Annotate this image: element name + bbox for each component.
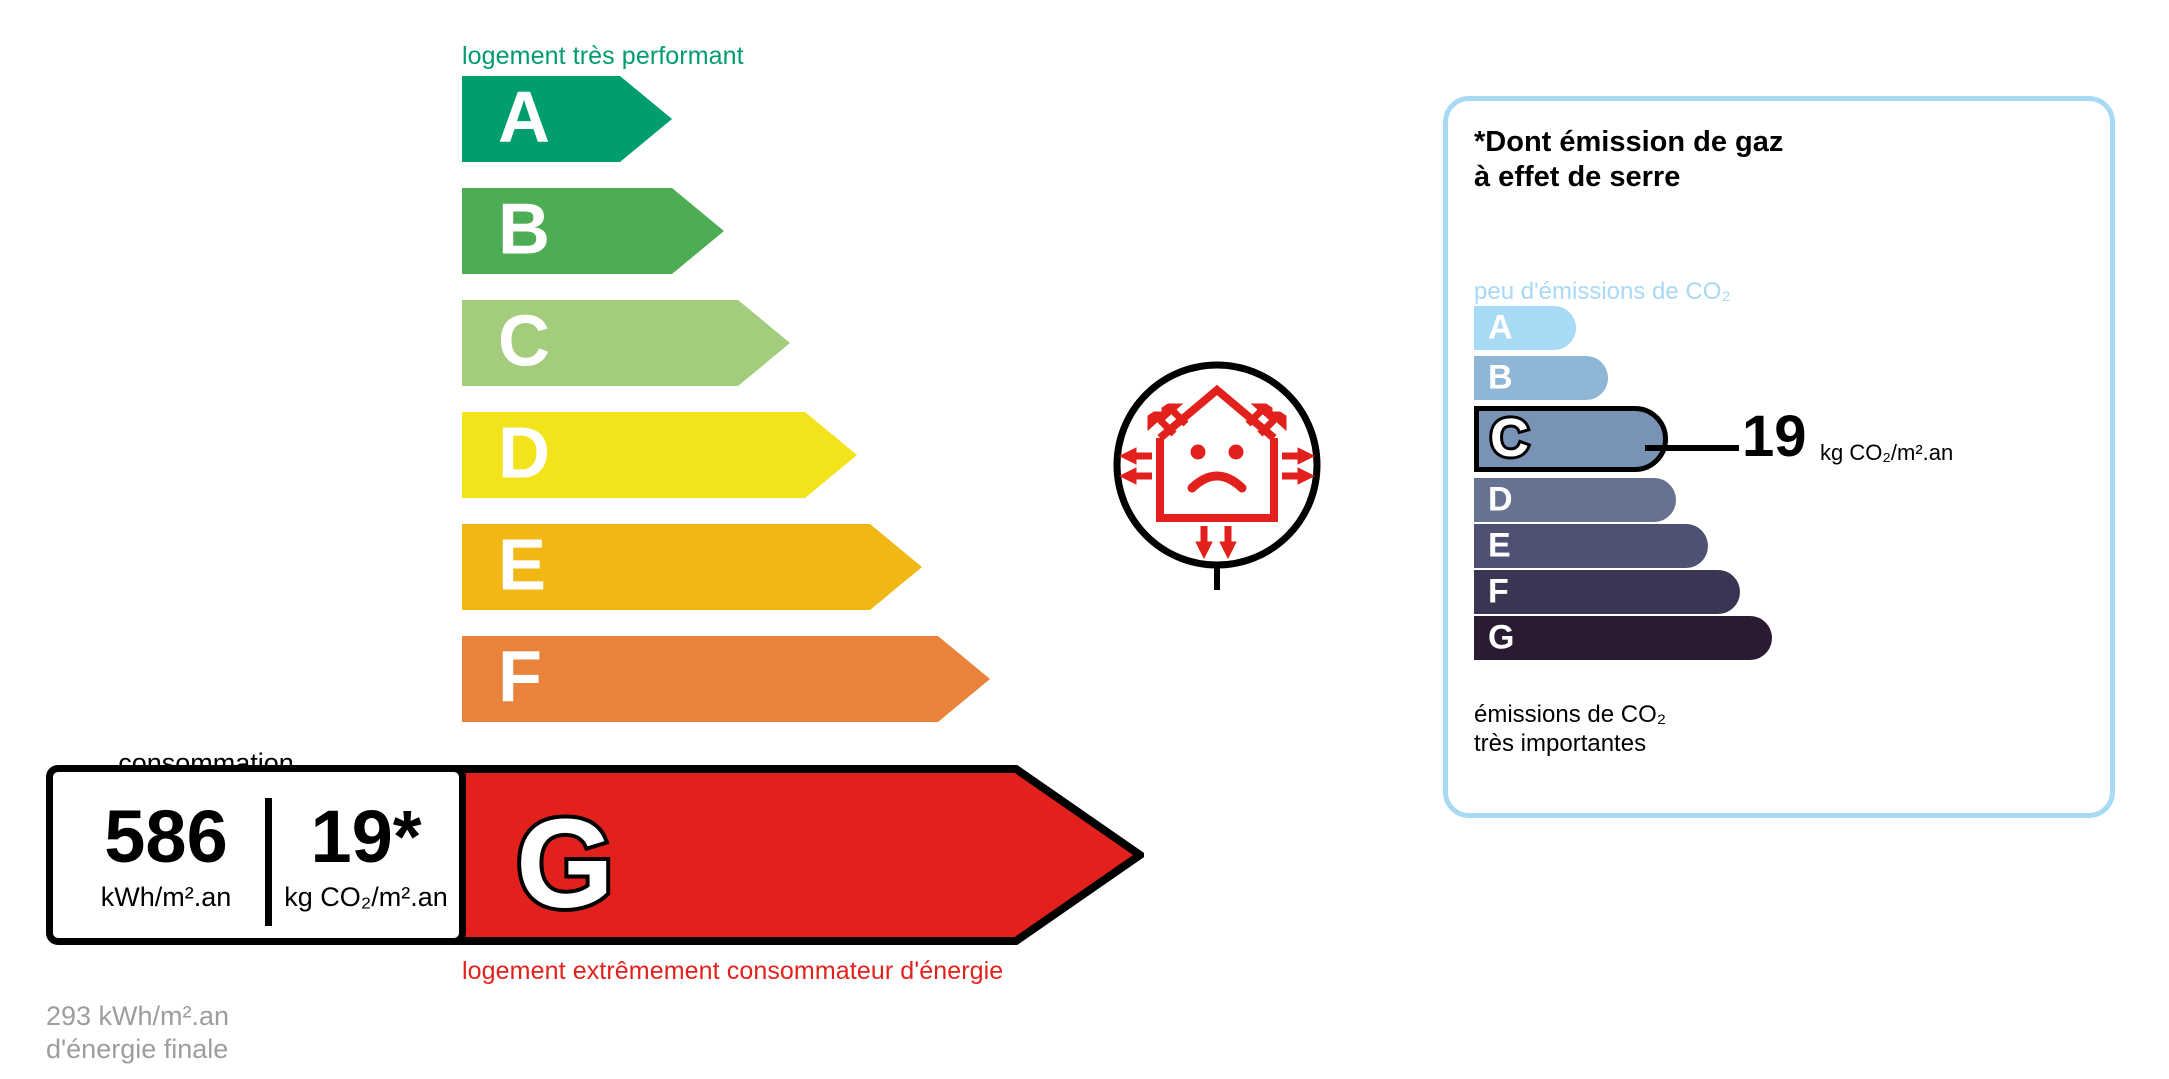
- ges-leader-line: [1645, 445, 1739, 451]
- energy-badge-callout: [1112, 360, 1322, 590]
- final-energy-line1: 293 kWh/m².an: [46, 1000, 229, 1033]
- ges-class-letter-c: C: [1490, 411, 1529, 465]
- ges-bottom-label-line1: émissions de CO₂: [1474, 700, 1666, 729]
- ges-title-line2: à effet de serre: [1474, 160, 1783, 195]
- ges-title-line1: *Dont émission de gaz: [1474, 125, 1783, 160]
- final-energy-line2: d'énergie finale: [46, 1033, 229, 1066]
- ges-class-letter-f: F: [1488, 574, 1509, 608]
- energy-class-bar-b: B: [462, 188, 724, 274]
- ges-class-row-c: C: [1474, 406, 1668, 472]
- ges-class-row-f: F: [1474, 570, 1740, 614]
- energy-class-letter-g: G: [516, 801, 614, 927]
- energy-class-letter-b: B: [498, 194, 550, 266]
- ges-class-bar-g: [1474, 616, 1772, 660]
- ges-class-letter-d: D: [1488, 482, 1513, 516]
- ges-class-row-e: E: [1474, 524, 1708, 568]
- consumption-value: 586: [73, 800, 259, 874]
- energy-class-letter-a: A: [498, 82, 550, 154]
- ges-top-label: peu d'émissions de CO₂: [1474, 278, 1731, 306]
- ges-title: *Dont émission de gaz à effet de serre: [1474, 125, 1783, 195]
- energy-class-bar-a: A: [462, 76, 672, 162]
- ges-class-row-g: G: [1474, 616, 1772, 660]
- energy-class-letter-c: C: [498, 306, 550, 378]
- energy-scale-bottom-label: logement extrêmement consommateur d'éner…: [462, 957, 1003, 986]
- ges-class-letter-e: E: [1488, 528, 1511, 562]
- ges-class-letter-a: A: [1488, 310, 1513, 344]
- ges-value-unit: kg CO₂/m².an: [1820, 442, 1953, 464]
- ges-class-row-d: D: [1474, 478, 1676, 522]
- energy-class-letter-e: E: [498, 530, 546, 602]
- final-energy-note: 293 kWh/m².an d'énergie finale: [46, 1000, 229, 1067]
- ges-class-letter-g: G: [1488, 620, 1514, 654]
- ges-value: 19: [1742, 408, 1807, 466]
- emissions-unit: kg CO₂/m².an: [271, 884, 461, 911]
- ges-bottom-label-line2: très importantes: [1474, 729, 1666, 758]
- energy-class-bar-e: E: [462, 524, 922, 610]
- energy-class-arrow-a: [462, 76, 672, 162]
- ges-bottom-label: émissions de CO₂ très importantes: [1474, 700, 1666, 759]
- energy-class-bar-d: D: [462, 412, 857, 498]
- energy-class-letter-f: F: [498, 642, 542, 714]
- ges-class-row-b: B: [1474, 356, 1608, 400]
- energy-class-bar-f: F: [462, 636, 990, 722]
- consumption-unit: kWh/m².an: [73, 884, 259, 911]
- energy-scale-top-label: logement très performant: [462, 42, 744, 71]
- result-row: 586 kWh/m².an 19* kg CO₂/m².an G: [46, 765, 1146, 945]
- ges-class-row-a: A: [1474, 306, 1576, 350]
- emissions-value: 19*: [275, 800, 457, 874]
- ges-class-letter-b: B: [1488, 360, 1513, 394]
- energy-class-letter-d: D: [498, 418, 550, 490]
- ges-class-bar-f: [1474, 570, 1740, 614]
- energy-class-bar-c: C: [462, 300, 790, 386]
- consumption-value-box: 586 kWh/m².an 19* kg CO₂/m².an: [46, 765, 466, 945]
